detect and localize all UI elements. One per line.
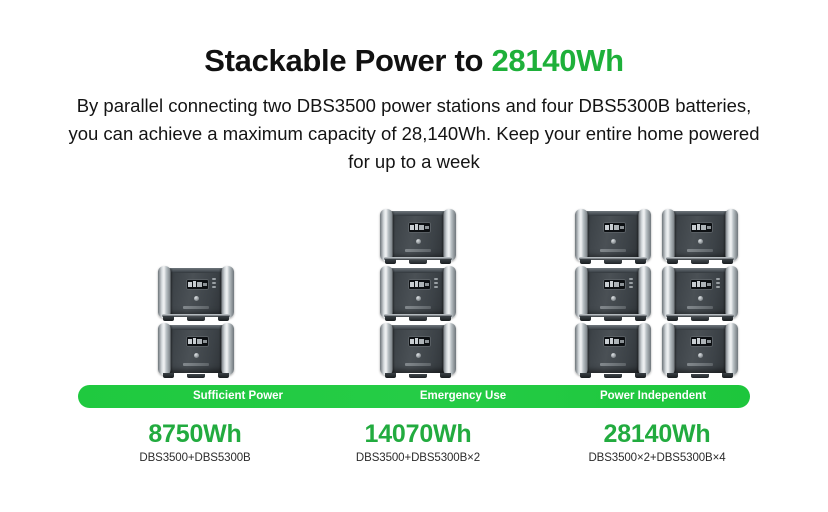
unit-left-pillar <box>158 323 171 375</box>
unit-top-bevel <box>168 268 224 273</box>
battery-unit <box>574 209 652 264</box>
unit-feet <box>383 315 453 321</box>
page-subtitle: By parallel connecting two DBS3500 power… <box>64 78 764 176</box>
unit-right-pillar <box>221 323 234 375</box>
unit-brand-logo <box>600 306 626 309</box>
unit-feet <box>383 258 453 264</box>
power-station-unit <box>574 266 652 321</box>
unit-power-button <box>416 239 421 244</box>
unit-power-button <box>698 239 703 244</box>
unit-right-pillar <box>221 266 234 318</box>
unit-power-button <box>698 296 703 301</box>
battery-unit <box>379 323 457 378</box>
category-label-power-independent: Power Independent <box>533 385 773 408</box>
unit-display-screen <box>690 336 713 347</box>
unit-feet <box>665 258 735 264</box>
unit-left-pillar <box>380 266 393 318</box>
unit-brand-logo <box>600 363 626 366</box>
battery-unit <box>574 323 652 378</box>
unit-display-screen <box>690 222 713 233</box>
unit-power-button <box>698 353 703 358</box>
battery-unit <box>661 209 739 264</box>
product-stack-column <box>661 209 739 378</box>
unit-right-pillar <box>725 209 738 261</box>
unit-brand-logo <box>600 249 626 252</box>
unit-brand-logo <box>405 363 431 366</box>
unit-brand-logo <box>183 363 209 366</box>
unit-feet <box>161 315 231 321</box>
unit-indicator-leds <box>434 278 438 288</box>
page-title-prefix: Stackable Power to <box>204 43 491 78</box>
unit-left-pillar <box>380 209 393 261</box>
unit-feet <box>578 315 648 321</box>
capacity-figures: 8750Wh DBS3500+DBS5300B 14070Wh DBS3500+… <box>0 420 828 480</box>
unit-left-pillar <box>662 209 675 261</box>
unit-indicator-leds <box>716 278 720 288</box>
unit-brand-logo <box>687 249 713 252</box>
unit-feet <box>665 315 735 321</box>
unit-brand-logo <box>405 306 431 309</box>
unit-right-pillar <box>725 323 738 375</box>
power-station-unit <box>379 266 457 321</box>
unit-left-pillar <box>575 323 588 375</box>
unit-right-pillar <box>443 209 456 261</box>
unit-display-screen <box>408 222 431 233</box>
unit-top-bevel <box>168 325 224 330</box>
product-stack-column <box>379 209 457 378</box>
unit-power-button <box>611 353 616 358</box>
capacity-value: 14070Wh <box>288 420 548 449</box>
power-station-unit <box>661 266 739 321</box>
product-group-power-independent <box>574 209 739 378</box>
unit-display-screen <box>690 279 713 290</box>
unit-indicator-leds <box>629 278 633 288</box>
capacity-figure-emergency-use: 14070Wh DBS3500+DBS5300B×2 <box>288 420 548 464</box>
unit-display-screen <box>408 279 431 290</box>
page-title: Stackable Power to 28140Wh <box>0 0 828 78</box>
unit-power-button <box>194 353 199 358</box>
unit-indicator-leds <box>212 278 216 288</box>
unit-brand-logo <box>687 363 713 366</box>
unit-left-pillar <box>158 266 171 318</box>
unit-brand-logo <box>405 249 431 252</box>
battery-unit <box>157 323 235 378</box>
unit-display-screen <box>603 222 626 233</box>
product-stack-column <box>157 266 235 378</box>
battery-unit <box>379 209 457 264</box>
capacity-model-list: DBS3500+DBS5300B <box>65 452 325 464</box>
unit-display-screen <box>186 279 209 290</box>
product-stack-column <box>574 209 652 378</box>
unit-right-pillar <box>725 266 738 318</box>
unit-feet <box>383 372 453 378</box>
capacity-model-list: DBS3500+DBS5300B×2 <box>288 452 548 464</box>
unit-power-button <box>611 296 616 301</box>
unit-right-pillar <box>443 266 456 318</box>
unit-left-pillar <box>575 209 588 261</box>
capacity-value: 8750Wh <box>65 420 325 449</box>
category-label-sufficient-power: Sufficient Power <box>118 385 358 408</box>
product-group-emergency-use <box>379 209 457 378</box>
unit-right-pillar <box>638 323 651 375</box>
product-group-sufficient-power <box>157 266 235 378</box>
unit-brand-logo <box>183 306 209 309</box>
unit-display-screen <box>186 336 209 347</box>
unit-power-button <box>416 296 421 301</box>
capacity-figure-power-independent: 28140Wh DBS3500×2+DBS5300B×4 <box>527 420 787 464</box>
capacity-value: 28140Wh <box>527 420 787 449</box>
unit-right-pillar <box>638 266 651 318</box>
unit-right-pillar <box>443 323 456 375</box>
unit-left-pillar <box>662 323 675 375</box>
product-stack-stage <box>0 178 828 378</box>
unit-power-button <box>611 239 616 244</box>
unit-left-pillar <box>575 266 588 318</box>
unit-display-screen <box>603 336 626 347</box>
capacity-model-list: DBS3500×2+DBS5300B×4 <box>527 452 787 464</box>
battery-unit <box>661 323 739 378</box>
unit-left-pillar <box>380 323 393 375</box>
category-bar: Sufficient Power Emergency Use Power Ind… <box>78 385 750 408</box>
page-title-accent-capacity: 28140Wh <box>491 43 623 78</box>
unit-feet <box>578 258 648 264</box>
unit-display-screen <box>408 336 431 347</box>
unit-display-screen <box>603 279 626 290</box>
unit-feet <box>665 372 735 378</box>
unit-right-pillar <box>638 209 651 261</box>
unit-left-pillar <box>662 266 675 318</box>
unit-brand-logo <box>687 306 713 309</box>
capacity-figure-sufficient-power: 8750Wh DBS3500+DBS5300B <box>65 420 325 464</box>
unit-feet <box>161 372 231 378</box>
unit-power-button <box>416 353 421 358</box>
unit-power-button <box>194 296 199 301</box>
unit-feet <box>578 372 648 378</box>
power-station-unit <box>157 266 235 321</box>
